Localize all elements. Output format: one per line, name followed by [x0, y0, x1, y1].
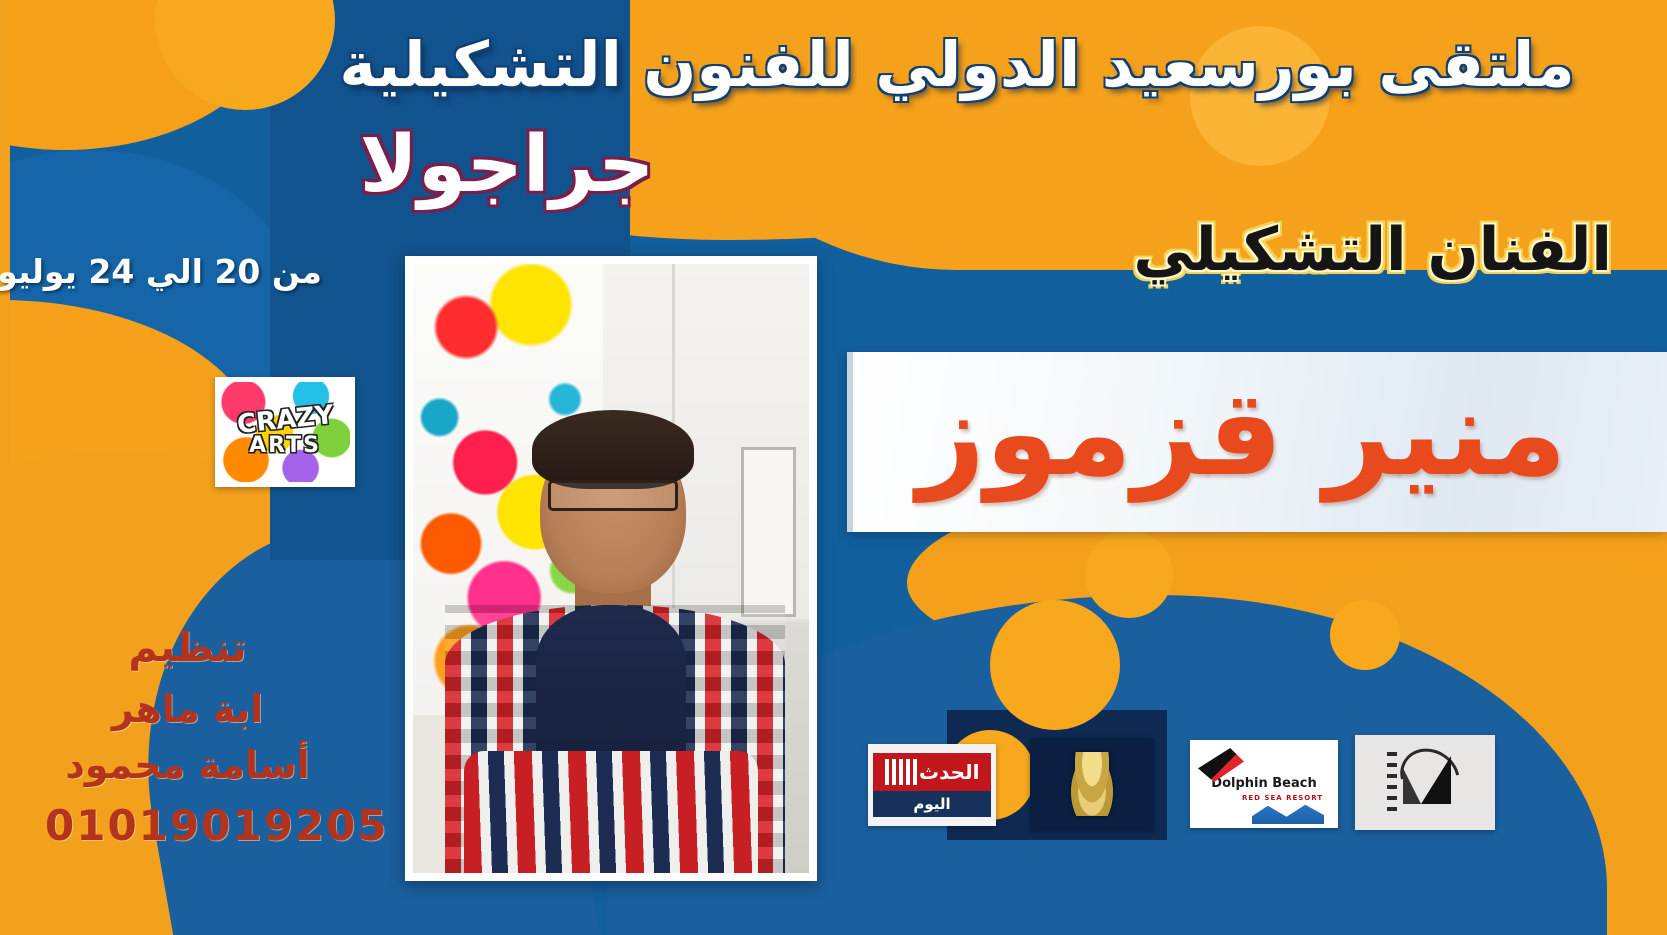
- organizer-name-1: ابة ماهر: [45, 687, 330, 731]
- portrait-hair: [532, 410, 694, 489]
- artist-portrait-frame: [405, 256, 817, 881]
- organizer-name-2: أسامة محمود: [45, 743, 330, 787]
- organizer-title: تنظيم: [45, 625, 330, 671]
- sail-secondary-shape: [1403, 768, 1421, 804]
- sail-primary-shape: [1421, 756, 1451, 804]
- bars-icon: [885, 759, 919, 785]
- event-dates: من 20 الي 24 يوليو: [0, 252, 322, 291]
- decorative-circle-mid: [1085, 530, 1173, 618]
- sponsor-logo-al-youm-bottom: اليوم: [873, 791, 991, 817]
- sponsor-logo-dolphin-beach: Dolphin Beach RED SEA RESORT: [1190, 740, 1338, 828]
- sponsor-logo-sailboat: [1355, 735, 1495, 830]
- event-subtitle: جراجولا: [297, 120, 717, 210]
- organizer-block: تنظيم ابة ماهر أسامة محمود 01019019205: [45, 625, 330, 850]
- sail-dots-shape: [1387, 752, 1397, 814]
- sponsor-logo-dolphin-text: Dolphin Beach: [1211, 777, 1316, 792]
- sponsor-logo-dolphin-subtext: RED SEA RESORT: [1242, 794, 1323, 802]
- portrait-background-artwork-frame: [741, 447, 797, 618]
- artist-name: منير قزموز: [847, 348, 1637, 519]
- crazy-arts-logo-line2: ARTS: [249, 435, 321, 457]
- decorative-left-edge-strip: [0, 0, 10, 935]
- sponsor-logo-gold-crest: [1030, 738, 1154, 830]
- organizer-phone: 01019019205: [45, 801, 330, 850]
- artist-portrait-photo: [413, 264, 809, 873]
- crazy-arts-logo: CRAZY ARTS: [215, 377, 355, 487]
- portrait-folded-arms: [464, 751, 757, 873]
- sponsor-logo-al-hadath-top: الحدث: [873, 753, 991, 791]
- artist-role-label: الفنان التشكيلي: [1133, 215, 1612, 285]
- sponsor-logo-al-hadath-text: الحدث: [919, 760, 979, 784]
- sponsor-logo-al-hadath-al-youm: الحدث اليوم: [868, 744, 996, 826]
- crest-icon: [1069, 752, 1115, 816]
- sailboat-icon: [1385, 750, 1465, 816]
- page-title: ملتقى بورسعيد الدولي للفنون التشكيلية: [307, 28, 1607, 101]
- sponsor-logo-al-youm-text: اليوم: [913, 795, 950, 813]
- crazy-arts-logo-inner: CRAZY ARTS: [220, 382, 350, 482]
- event-poster: ملتقى بورسعيد الدولي للفنون التشكيلية جر…: [0, 0, 1667, 935]
- decorative-circle-mid-right: [1330, 600, 1400, 670]
- decorative-circle-lower: [990, 600, 1120, 730]
- glasses-icon: [548, 480, 679, 510]
